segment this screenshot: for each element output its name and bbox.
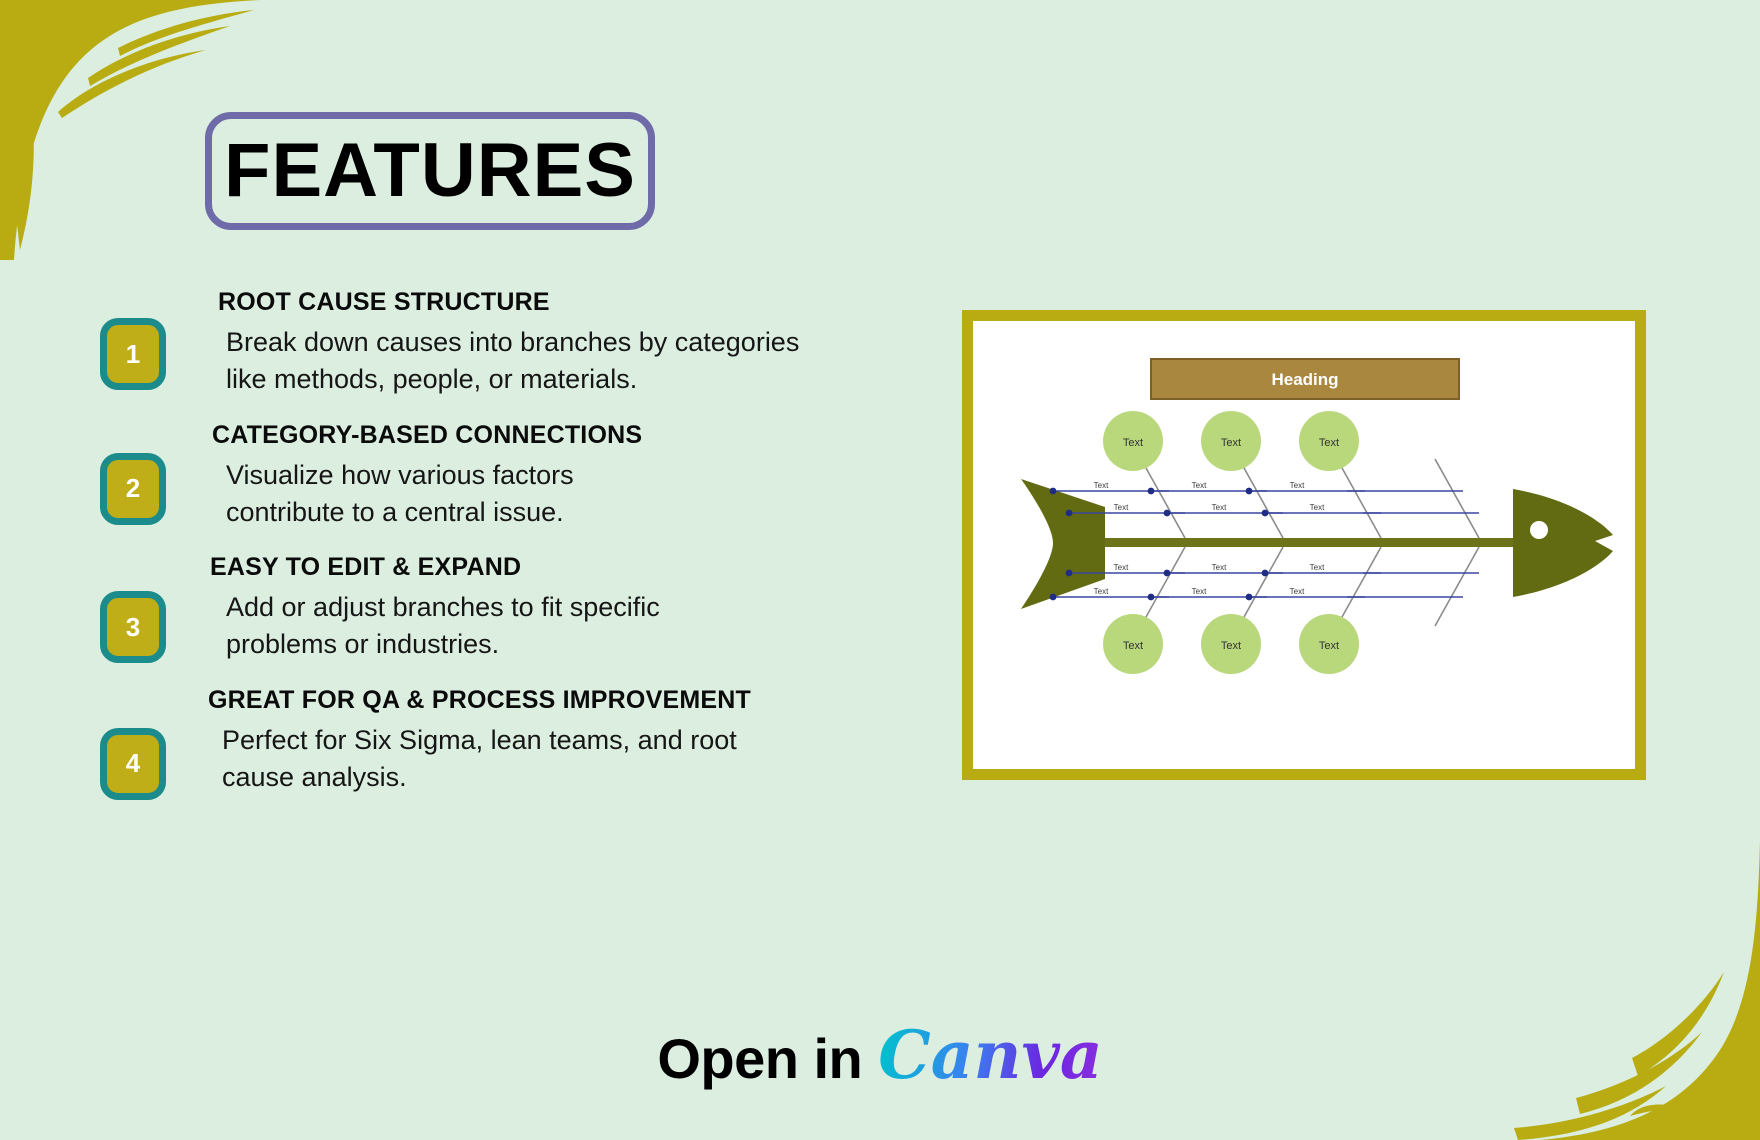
svg-text:Text: Text	[1192, 587, 1207, 596]
feature-item-3: 3 EASY TO EDIT & EXPAND Add or adjust br…	[100, 553, 920, 664]
footer-cta[interactable]: Open in Canva	[0, 1022, 1760, 1091]
svg-text:Text: Text	[1319, 640, 1339, 652]
svg-text:Text: Text	[1212, 503, 1227, 512]
fish-tail	[1021, 479, 1105, 609]
feature-item-1: 1 ROOT CAUSE STRUCTURE Break down causes…	[100, 288, 920, 399]
feature-number-badge-3: 3	[100, 591, 166, 663]
feature-number-badge-2: 2	[100, 453, 166, 525]
page-title-box: FEATURES	[205, 112, 655, 230]
feature-heading-1: ROOT CAUSE STRUCTURE	[218, 288, 920, 317]
svg-text:Text: Text	[1212, 563, 1227, 572]
svg-text:Text: Text	[1094, 587, 1109, 596]
svg-text:Text: Text	[1094, 481, 1109, 490]
canva-logo-text[interactable]: Canva	[878, 1022, 1102, 1088]
open-in-label: Open in	[657, 1026, 862, 1091]
svg-text:Text: Text	[1319, 437, 1339, 449]
feature-description-3: Add or adjust branches to fit specific p…	[218, 589, 920, 664]
fish-eye	[1530, 521, 1548, 539]
corner-leaf-decoration-bottom-right	[1480, 840, 1760, 1140]
fishbone-top-branches: Text Text Text Text Text Text Text Text	[1050, 411, 1479, 538]
feature-number-badge-4: 4	[100, 728, 166, 800]
svg-text:Text: Text	[1123, 437, 1143, 449]
page-title: FEATURES	[224, 133, 636, 209]
svg-text:Text: Text	[1290, 481, 1305, 490]
feature-number-badge-1: 1	[100, 318, 166, 390]
svg-text:Text: Text	[1290, 587, 1305, 596]
svg-text:Text: Text	[1123, 640, 1143, 652]
fishbone-diagram-preview[interactable]: Heading Text Text Text Text Text	[962, 310, 1646, 780]
feature-description-2: Visualize how various factors contribute…	[218, 457, 920, 532]
svg-text:Text: Text	[1114, 563, 1129, 572]
feature-heading-4: GREAT FOR QA & PROCESS IMPROVEMENT	[208, 686, 920, 715]
fish-head	[1513, 489, 1613, 597]
svg-text:Text: Text	[1114, 503, 1129, 512]
feature-description-4: Perfect for Six Sigma, lean teams, and r…	[218, 722, 920, 797]
feature-item-2: 2 CATEGORY-BASED CONNECTIONS Visualize h…	[100, 421, 920, 532]
svg-text:Text: Text	[1192, 481, 1207, 490]
svg-text:Text: Text	[1310, 503, 1325, 512]
svg-text:Text: Text	[1310, 563, 1325, 572]
fishbone-diagram-svg: Heading Text Text Text Text Text	[973, 321, 1635, 769]
feature-heading-2: CATEGORY-BASED CONNECTIONS	[212, 421, 920, 450]
svg-text:Text: Text	[1221, 437, 1241, 449]
fishbone-bottom-branches: Text Text Text Text Text Text Text Text	[1050, 547, 1479, 674]
feature-list: 1 ROOT CAUSE STRUCTURE Break down causes…	[100, 288, 920, 818]
feature-heading-3: EASY TO EDIT & EXPAND	[210, 553, 920, 582]
fish-spine	[1103, 538, 1513, 547]
feature-description-1: Break down causes into branches by categ…	[218, 324, 920, 399]
svg-text:Text: Text	[1221, 640, 1241, 652]
feature-item-4: 4 GREAT FOR QA & PROCESS IMPROVEMENT Per…	[100, 686, 920, 797]
diagram-heading-label: Heading	[1271, 370, 1338, 389]
